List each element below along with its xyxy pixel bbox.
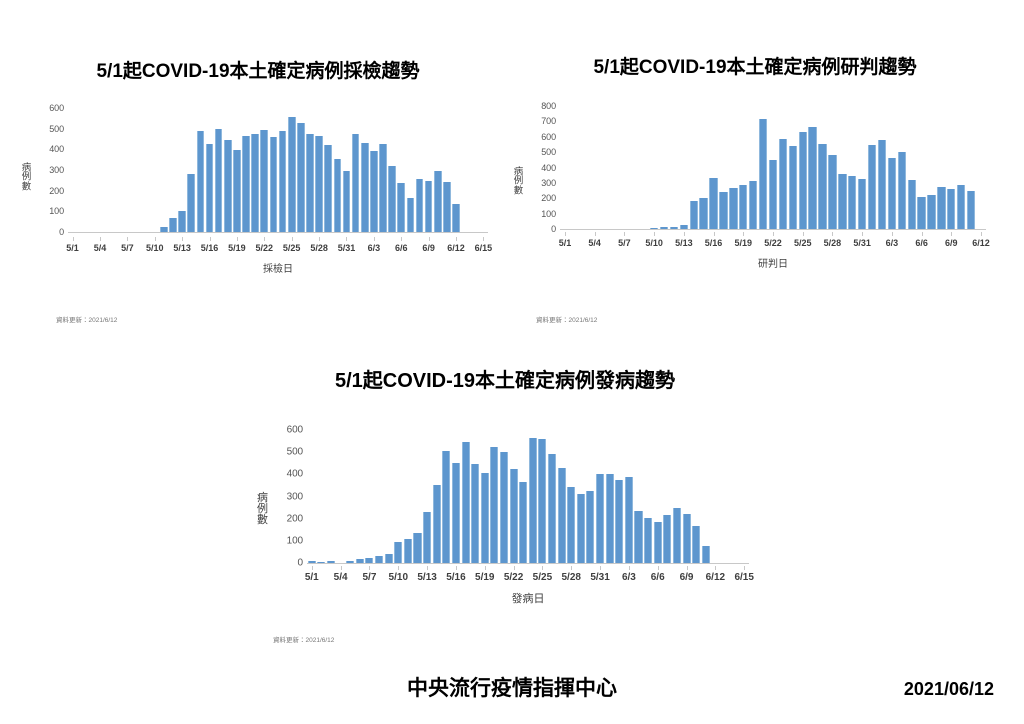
bar (908, 180, 916, 229)
bar (433, 485, 441, 563)
bar (481, 473, 489, 563)
chart-panel-judgment: 5/1起COVID-19本土確定病例研判趨勢 病例數 0100200300400… (510, 58, 1000, 328)
x-tick-label: 5/7 (618, 238, 631, 248)
y-tick-label: 500 (49, 124, 64, 134)
x-tick-mark (744, 566, 745, 570)
data-update-note-judgment: 資料更新：2021/6/12 (536, 314, 597, 324)
x-axis-title-judgment: 研判日 (560, 255, 986, 270)
chart-area-judgment: 病例數 0100200300400500600700800 5/15/45/75… (510, 98, 1000, 288)
bar (799, 132, 807, 229)
bar (927, 195, 935, 229)
bar (452, 463, 460, 563)
y-tick-label: 100 (541, 209, 556, 219)
x-tick-mark (485, 566, 486, 570)
bar (739, 185, 747, 229)
x-tick-mark (319, 237, 320, 241)
bar (967, 191, 975, 229)
y-tick-label: 400 (49, 144, 64, 154)
x-tick-mark (456, 237, 457, 241)
x-tick-mark (374, 237, 375, 241)
y-tick-label: 200 (541, 193, 556, 203)
x-tick-mark (571, 566, 572, 570)
bars-onset (307, 430, 749, 563)
x-tick-mark (773, 232, 774, 236)
x-tick-label: 5/25 (533, 572, 552, 583)
x-tick-label: 5/19 (735, 238, 753, 248)
x-tick-mark (456, 566, 457, 570)
x-tick-label: 5/28 (824, 238, 842, 248)
bar (397, 183, 405, 232)
x-tick-mark (237, 237, 238, 241)
bar (317, 562, 325, 563)
y-tick-label: 600 (287, 425, 303, 436)
bar (404, 539, 412, 563)
bar (471, 464, 479, 563)
x-axis-title-onset: 發病日 (307, 590, 749, 606)
bar (352, 134, 360, 232)
bar (529, 438, 537, 563)
bar (490, 447, 498, 563)
y-tick-label: 100 (49, 206, 64, 216)
x-tick-label: 5/28 (310, 243, 328, 253)
bar (365, 558, 373, 563)
x-tick-mark (714, 232, 715, 236)
bar (356, 559, 364, 563)
x-tick-mark (687, 566, 688, 570)
data-update-note-sampling: 資料更新：2021/6/12 (56, 314, 117, 324)
y-tick-label: 400 (287, 469, 303, 480)
bar (279, 131, 287, 232)
bar (385, 554, 393, 563)
footer-date: 2021/06/12 (904, 679, 994, 700)
bar (462, 442, 470, 563)
x-tick-label: 5/16 (705, 238, 723, 248)
y-tick-label: 300 (49, 165, 64, 175)
x-tick-mark (654, 232, 655, 236)
bar (500, 452, 508, 563)
bar (324, 145, 332, 232)
bar (699, 198, 707, 229)
bar (749, 181, 757, 229)
y-axis-title-sampling: 病例數 (20, 163, 33, 192)
bar (443, 182, 451, 232)
bar (370, 151, 378, 232)
x-tick-mark (341, 566, 342, 570)
y-tick-label: 200 (287, 513, 303, 524)
bar (606, 474, 614, 563)
x-tick-label: 6/3 (886, 238, 899, 248)
bar (615, 480, 623, 563)
x-tick-mark (743, 232, 744, 236)
x-tick-mark (429, 237, 430, 241)
x-tick-label: 5/19 (475, 572, 494, 583)
bar (789, 146, 797, 229)
x-tick-label: 5/4 (588, 238, 601, 248)
x-tick-label: 6/6 (395, 243, 408, 253)
bar (260, 130, 268, 232)
bar (848, 176, 856, 229)
y-tick-label: 0 (59, 227, 64, 237)
bar (423, 512, 431, 563)
bar (178, 211, 186, 232)
x-tick-label: 5/1 (66, 243, 79, 253)
bar (538, 439, 546, 563)
x-axis-line-judgment (560, 229, 986, 230)
x-tick-label: 5/31 (338, 243, 356, 253)
y-tick-label: 0 (551, 224, 556, 234)
x-tick-label: 6/9 (945, 238, 958, 248)
x-tick-mark (398, 566, 399, 570)
x-axis-title-sampling: 採檢日 (68, 260, 488, 275)
x-tick-label: 5/19 (228, 243, 246, 253)
x-tick-label: 6/9 (422, 243, 435, 253)
x-tick-mark (401, 237, 402, 241)
plot-judgment (560, 106, 986, 230)
bar (452, 204, 460, 232)
bar (361, 143, 369, 232)
bar (692, 526, 700, 563)
x-tick-label: 6/12 (447, 243, 465, 253)
x-tick-mark (600, 566, 601, 570)
bar (510, 469, 518, 563)
x-tick-label: 5/13 (173, 243, 191, 253)
bar (394, 542, 402, 563)
bars-sampling (68, 108, 488, 232)
bar (828, 155, 836, 229)
bar (442, 451, 450, 563)
x-tick-mark (542, 566, 543, 570)
chart-area-sampling: 病例數 0100200300400500600 5/15/45/75/105/1… (18, 100, 498, 285)
y-axis-title-judgment: 病例數 (512, 167, 525, 196)
bar (719, 192, 727, 229)
y-axis-title-onset: 病例數 (255, 493, 270, 527)
bar (670, 227, 678, 229)
x-tick-mark (922, 232, 923, 236)
bar (251, 134, 259, 232)
bar (596, 474, 604, 563)
bar (702, 546, 710, 564)
bar (858, 179, 866, 229)
bar (206, 144, 214, 232)
y-tick-label: 300 (287, 491, 303, 502)
bar (416, 179, 424, 232)
x-tick-label: 5/22 (764, 238, 782, 248)
bars-judgment (560, 106, 986, 229)
y-tick-label: 300 (541, 178, 556, 188)
x-tick-label: 5/1 (305, 572, 319, 583)
x-tick-mark (892, 232, 893, 236)
x-axis-line-sampling (68, 232, 488, 233)
x-tick-label: 5/4 (94, 243, 107, 253)
x-tick-mark (832, 232, 833, 236)
x-tick-mark (624, 232, 625, 236)
bar (413, 533, 421, 563)
bar (346, 561, 354, 563)
x-tick-mark (803, 232, 804, 236)
plot-onset (307, 430, 749, 564)
x-tick-mark (951, 232, 952, 236)
bar (343, 171, 351, 232)
bar (650, 228, 658, 229)
bar (425, 181, 433, 232)
x-tick-label: 5/13 (417, 572, 436, 583)
bar (169, 218, 177, 232)
chart-panel-onset: 5/1起COVID-19本土確定病例發病趨勢 病例數 0100200300400… (245, 370, 765, 660)
x-axis-ticks-judgment: 5/15/45/75/105/135/165/195/225/255/285/3… (560, 236, 986, 252)
bar (388, 166, 396, 232)
x-tick-mark (369, 566, 370, 570)
bar (779, 139, 787, 229)
bar (709, 178, 717, 229)
bar (683, 514, 691, 563)
x-tick-label: 5/10 (389, 572, 408, 583)
bar (567, 487, 575, 563)
x-axis-line-onset (307, 563, 749, 564)
bar (558, 468, 566, 563)
bar (838, 174, 846, 229)
bar (379, 144, 387, 232)
y-axis-ticks-onset: 0100200300400500600 (271, 430, 303, 564)
x-tick-label: 5/31 (853, 238, 871, 248)
bar (917, 197, 925, 229)
y-axis-ticks-judgment: 0100200300400500600700800 (526, 106, 556, 230)
x-tick-label: 5/7 (121, 243, 134, 253)
chart-title-sampling: 5/1起COVID-19本土確定病例採檢趨勢 (18, 62, 498, 83)
x-tick-mark (715, 566, 716, 570)
bar (663, 515, 671, 563)
y-tick-label: 400 (541, 163, 556, 173)
x-tick-label: 5/25 (283, 243, 301, 253)
footer-organization: 中央流行疫情指揮中心 (0, 672, 1024, 702)
x-tick-label: 5/22 (504, 572, 523, 583)
bar (625, 477, 633, 563)
y-tick-label: 800 (541, 101, 556, 111)
bar (548, 454, 556, 563)
bar (634, 511, 642, 563)
data-update-note-onset: 資料更新：2021/6/12 (273, 634, 334, 644)
bar (297, 123, 305, 232)
x-tick-label: 6/12 (706, 572, 725, 583)
x-tick-mark (182, 237, 183, 241)
x-tick-mark (684, 232, 685, 236)
y-tick-label: 600 (541, 132, 556, 142)
x-tick-label: 6/12 (972, 238, 990, 248)
x-tick-mark (100, 237, 101, 241)
y-axis-ticks-sampling: 0100200300400500600 (34, 108, 64, 233)
bar (947, 189, 955, 229)
x-tick-mark (565, 232, 566, 236)
plot-sampling (68, 108, 488, 233)
chart-title-onset: 5/1起COVID-19本土確定病例發病趨勢 (245, 370, 765, 392)
bar (577, 494, 585, 563)
x-tick-mark (658, 566, 659, 570)
y-tick-label: 700 (541, 116, 556, 126)
x-tick-label: 5/13 (675, 238, 693, 248)
bar (759, 119, 767, 229)
bar (375, 556, 383, 563)
bar (334, 159, 342, 232)
bar (680, 225, 688, 229)
bar (407, 198, 415, 232)
x-tick-label: 6/15 (475, 243, 493, 253)
x-tick-mark (629, 566, 630, 570)
x-tick-mark (292, 237, 293, 241)
y-tick-label: 0 (298, 558, 303, 569)
bar (673, 508, 681, 563)
y-tick-label: 500 (541, 147, 556, 157)
bar (215, 129, 223, 232)
x-tick-label: 6/9 (680, 572, 694, 583)
x-tick-label: 5/10 (146, 243, 164, 253)
x-tick-mark (483, 237, 484, 241)
x-tick-mark (155, 237, 156, 241)
bar (898, 152, 906, 229)
x-tick-mark (210, 237, 211, 241)
y-tick-label: 100 (287, 535, 303, 546)
bar (270, 137, 278, 232)
x-tick-label: 6/6 (915, 238, 928, 248)
x-axis-ticks-sampling: 5/15/45/75/105/135/165/195/225/255/285/3… (68, 241, 488, 257)
bar (878, 140, 886, 229)
x-tick-mark (346, 237, 347, 241)
y-tick-label: 600 (49, 103, 64, 113)
x-tick-label: 6/15 (734, 572, 753, 583)
x-tick-label: 6/3 (622, 572, 636, 583)
bar (242, 136, 250, 233)
bar (808, 127, 816, 229)
x-tick-label: 5/28 (562, 572, 581, 583)
bar (957, 185, 965, 229)
x-tick-label: 6/3 (368, 243, 381, 253)
x-tick-mark (595, 232, 596, 236)
x-tick-label: 5/22 (256, 243, 274, 253)
x-tick-mark (312, 566, 313, 570)
bar (769, 160, 777, 229)
chart-area-onset: 病例數 0100200300400500600 5/15/45/75/105/1… (245, 422, 765, 622)
x-axis-ticks-onset: 5/15/45/75/105/135/165/195/225/255/285/3… (307, 570, 749, 586)
bar (197, 131, 205, 232)
bar (644, 518, 652, 563)
bar (818, 144, 826, 229)
y-tick-label: 200 (49, 186, 64, 196)
x-tick-mark (981, 232, 982, 236)
x-tick-label: 5/31 (590, 572, 609, 583)
bar (160, 227, 168, 232)
bar (868, 145, 876, 229)
bar (729, 188, 737, 229)
x-tick-label: 5/16 (201, 243, 219, 253)
x-tick-label: 5/7 (363, 572, 377, 583)
bar (660, 227, 668, 229)
x-tick-label: 5/10 (645, 238, 663, 248)
x-tick-label: 6/6 (651, 572, 665, 583)
bar (308, 561, 316, 563)
bar (224, 140, 232, 232)
x-tick-label: 5/1 (559, 238, 572, 248)
x-tick-label: 5/16 (446, 572, 465, 583)
x-tick-mark (862, 232, 863, 236)
chart-title-judgment: 5/1起COVID-19本土確定病例研判趨勢 (510, 58, 1000, 79)
chart-panel-sampling: 5/1起COVID-19本土確定病例採檢趨勢 病例數 0100200300400… (18, 62, 498, 332)
x-tick-mark (127, 237, 128, 241)
bar (327, 561, 335, 563)
bar (315, 136, 323, 232)
x-tick-label: 5/25 (794, 238, 812, 248)
bar (434, 171, 442, 232)
x-tick-mark (264, 237, 265, 241)
x-tick-mark (73, 237, 74, 241)
bar (690, 201, 698, 229)
x-tick-mark (514, 566, 515, 570)
bar (187, 174, 195, 232)
y-tick-label: 500 (287, 447, 303, 458)
bar (233, 150, 241, 232)
bar (586, 491, 594, 563)
bar (888, 158, 896, 229)
x-tick-label: 5/4 (334, 572, 348, 583)
bar (288, 117, 296, 232)
bar (306, 134, 314, 232)
bar (654, 522, 662, 563)
bar (937, 187, 945, 229)
x-tick-mark (427, 566, 428, 570)
bar (519, 482, 527, 563)
